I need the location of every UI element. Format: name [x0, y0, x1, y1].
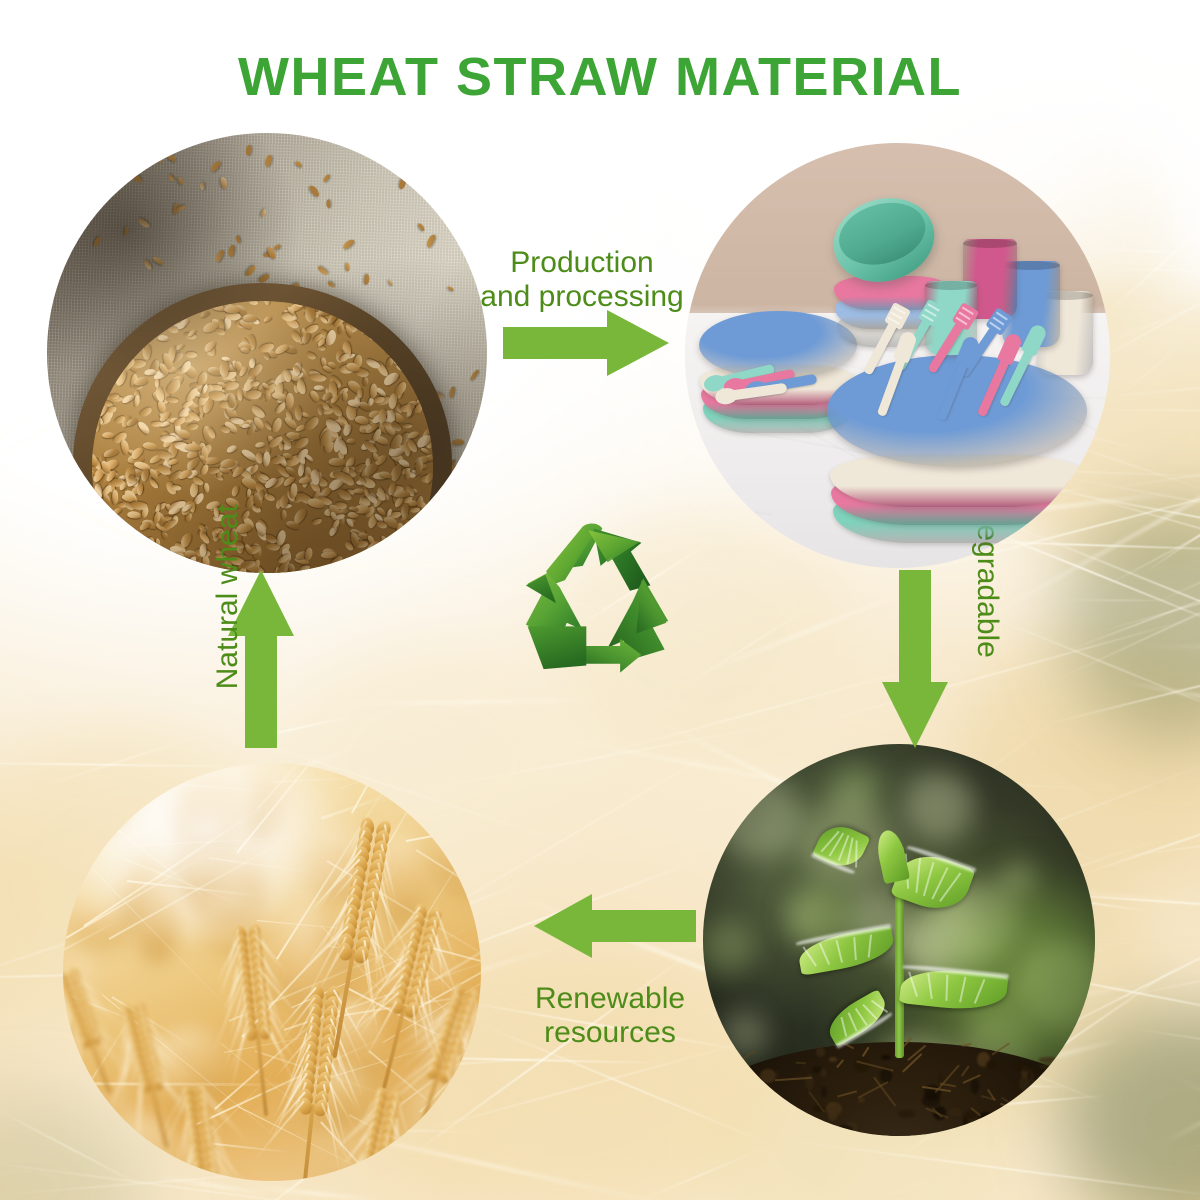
wheat-stalk	[301, 1105, 315, 1181]
plate-blue-left	[699, 311, 857, 379]
background-straw-strand	[1140, 643, 1200, 649]
soil-clump	[1015, 1129, 1026, 1136]
soil-clump	[763, 1133, 775, 1136]
label-renewable-line1: Renewable	[500, 982, 720, 1016]
page-title: WHEAT STRAW MATERIAL	[0, 46, 1200, 108]
soil-clump	[1004, 1116, 1020, 1121]
soil-clump	[1093, 1110, 1095, 1114]
label-renewable-line2: resources	[500, 1016, 720, 1050]
infographic-canvas: WHEAT STRAW MATERIAL	[0, 0, 1200, 1200]
photo-vignette	[703, 744, 1095, 1136]
arrow-down-biodegradable	[882, 570, 948, 748]
recycle-icon	[508, 516, 686, 694]
soil-clump	[1083, 1085, 1095, 1101]
soil-clump	[1059, 1126, 1075, 1136]
label-natural-wheat: Natural wheat	[211, 487, 245, 707]
soil-clump	[994, 1116, 1000, 1127]
soil-clump	[1069, 1104, 1081, 1109]
photo-circle-seedling	[703, 744, 1095, 1136]
photo-circle-wheat-field	[63, 763, 481, 1181]
root-hair	[743, 1094, 757, 1113]
soil-clump	[818, 1133, 834, 1136]
label-renewable-resources: Renewable resources	[500, 982, 720, 1049]
label-production-line2: and processing	[452, 280, 712, 314]
soil-clump	[743, 1079, 758, 1091]
soil-clump	[1051, 1107, 1069, 1116]
fork-tine-gap	[888, 317, 900, 325]
label-production-line1: Production	[452, 246, 712, 280]
cup-rim	[925, 281, 977, 290]
photo-circle-wheat-grains	[47, 133, 487, 573]
arrow-right-production	[503, 310, 669, 376]
label-production-and-processing: Production and processing	[452, 246, 712, 313]
photo-circle-tableware	[685, 143, 1110, 568]
cup-rim	[963, 239, 1017, 248]
arrow-left-renewable	[534, 894, 696, 958]
linen-shadow	[47, 133, 487, 573]
soil-clump	[776, 1134, 787, 1136]
soil-clump	[800, 1127, 805, 1136]
soil-clump	[964, 1123, 973, 1136]
